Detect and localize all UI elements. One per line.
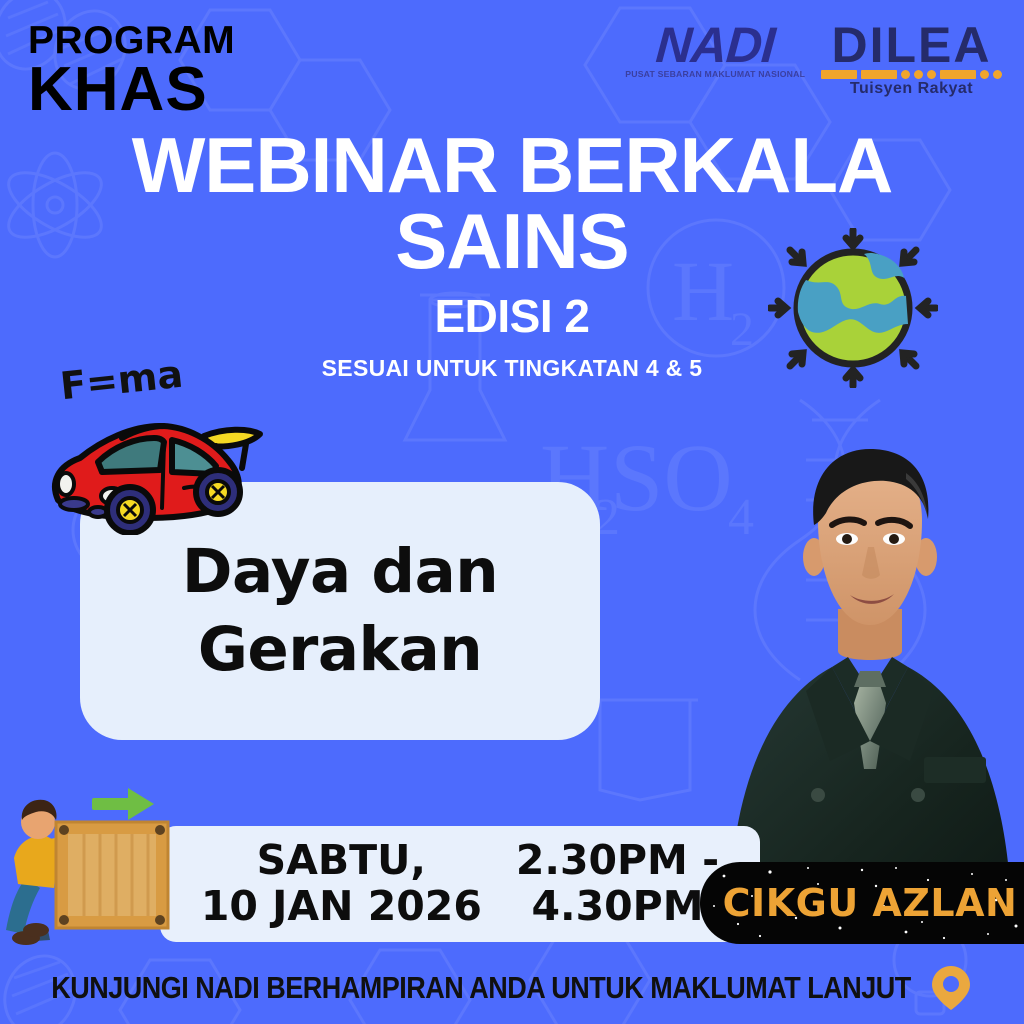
logo-group: NADI PUSAT SEBARAN MAKLUMAT NASIONAL DIL… (627, 22, 1002, 98)
headline-line-1: WEBINAR BERKALA (0, 128, 1024, 204)
program-word: PROGRAM (28, 22, 235, 59)
speaker-name: CIKGU AZLAN (723, 881, 1018, 925)
dilea-logo-tagline: Tuisyen Rakyat (821, 80, 1002, 98)
schedule-date-column: SABTU, 10 JAN 2026 (201, 838, 482, 930)
nadi-logo-name: NADI (625, 22, 805, 68)
dilea-logo-name: DILEA (821, 22, 1002, 68)
poster-canvas: H 2 H 2 SO 4 PROGRAM KHAS (0, 0, 1024, 1024)
khas-word: KHAS (28, 61, 235, 120)
dilea-logo: DILEA Tuisyen Rakyat (821, 22, 1002, 98)
schedule-day: SABTU, (201, 838, 482, 884)
red-sports-car-icon (36, 400, 276, 540)
schedule-time-start: 2.30PM - (516, 838, 719, 884)
schedule-card: SABTU, 10 JAN 2026 2.30PM - 4.30PM (160, 826, 760, 942)
location-pin-icon (929, 964, 973, 1012)
nadi-logo: NADI PUSAT SEBARAN MAKLUMAT NASIONAL (627, 22, 803, 79)
footer-text: KUNJUNGI NADI BERHAMPIRAN ANDA UNTUK MAK… (51, 971, 910, 1006)
person-pushing-crate-icon (0, 780, 196, 965)
nadi-logo-tagline: PUSAT SEBARAN MAKLUMAT NASIONAL (625, 69, 805, 79)
schedule-time-end: 4.30PM (516, 884, 719, 930)
speaker-badge: CIKGU AZLAN (700, 862, 1024, 944)
schedule-time-column: 2.30PM - 4.30PM (516, 838, 719, 930)
program-label: PROGRAM KHAS (28, 22, 235, 120)
earth-gravity-arrows-icon (768, 228, 938, 393)
topic-line-1: Daya dan (182, 533, 498, 611)
topic-line-2: Gerakan (198, 611, 482, 689)
schedule-date: 10 JAN 2026 (201, 884, 482, 930)
footer-bar: KUNJUNGI NADI BERHAMPIRAN ANDA UNTUK MAK… (0, 952, 1024, 1024)
